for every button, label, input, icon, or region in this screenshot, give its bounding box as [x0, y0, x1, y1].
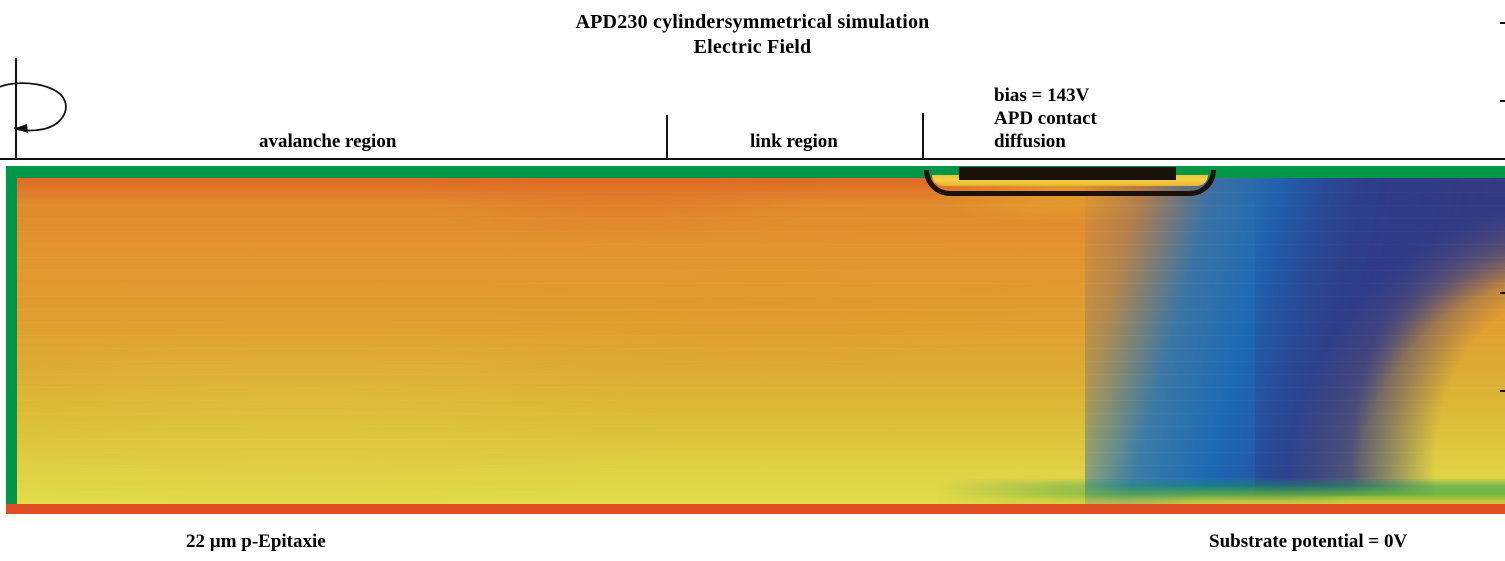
top-electrode: [6, 166, 1505, 178]
edge-tick-1: [1500, 22, 1505, 24]
substrate-electrode: [6, 504, 1505, 514]
title-line-2: Electric Field: [0, 35, 1505, 60]
region-divider-2: [922, 113, 924, 159]
header-baseline: [0, 158, 1505, 160]
bias-value: bias = 143V: [994, 84, 1097, 107]
apd-contact-metal: [959, 167, 1176, 180]
diffusion-label: diffusion: [994, 130, 1097, 153]
label-link-region: link region: [750, 131, 838, 153]
edge-tick-4: [1500, 390, 1505, 392]
field-contour-bands: [6, 166, 1505, 511]
page-title: APD230 cylindersymmetrical simulation El…: [0, 10, 1505, 60]
figure-canvas: APD230 cylindersymmetrical simulation El…: [0, 0, 1505, 561]
region-divider-1: [666, 115, 668, 159]
electric-field-heatmap: [6, 166, 1505, 511]
edge-tick-3: [1500, 292, 1505, 294]
axis-of-symmetry-icon: [0, 58, 105, 163]
caption-substrate-potential: Substrate potential = 0V: [1209, 531, 1407, 553]
title-line-1: APD230 cylindersymmetrical simulation: [0, 10, 1505, 35]
symmetry-axis-electrode: [6, 166, 17, 505]
caption-epitaxy: 22 µm p-Epitaxie: [186, 531, 326, 553]
apd-contact-annotation: bias = 143V APD contact diffusion: [994, 84, 1097, 153]
label-avalanche-region: avalanche region: [259, 131, 396, 153]
field-color-map: [6, 166, 1505, 511]
apd-contact-label: APD contact: [994, 107, 1097, 130]
edge-tick-2: [1500, 100, 1505, 102]
